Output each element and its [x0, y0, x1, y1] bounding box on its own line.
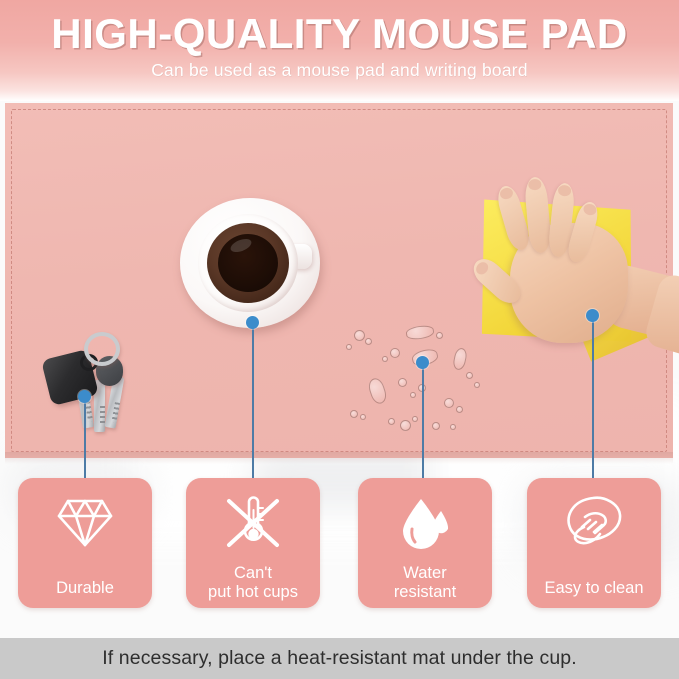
- connector-dot-hot-cups: [246, 316, 259, 329]
- no-hot-cup-icon: [186, 490, 320, 556]
- feature-label-line-1: Water: [358, 564, 492, 583]
- diamond-icon: [18, 490, 152, 556]
- key-ring: [84, 332, 120, 366]
- feature-label-durable: Durable: [18, 579, 152, 598]
- mouse-pad-shadow: [5, 452, 673, 464]
- keys-group: [38, 332, 148, 437]
- feature-label-water-resistant: Water resistant: [358, 564, 492, 602]
- header-banner: HIGH-QUALITY MOUSE PAD Can be used as a …: [0, 0, 679, 101]
- feature-label-line-2: resistant: [358, 583, 492, 602]
- feature-label-line-1: Can't: [186, 564, 320, 583]
- hand-with-cloth: [455, 175, 679, 390]
- connector-line-durable: [84, 396, 86, 482]
- feature-label-easy-to-clean: Easy to clean: [527, 579, 661, 598]
- water-drop-icon: [358, 490, 492, 556]
- footer-note: If necessary, place a heat-resistant mat…: [102, 647, 576, 670]
- connector-dot-easy-clean: [586, 309, 599, 322]
- connector-line-hot-cups: [252, 322, 254, 482]
- product-infographic: HIGH-QUALITY MOUSE PAD Can be used as a …: [0, 0, 679, 679]
- wipe-cloth-icon: [527, 490, 661, 556]
- feature-label-line-2: put hot cups: [186, 583, 320, 602]
- feature-label-hot-cups: Can't put hot cups: [186, 564, 320, 602]
- connector-line-water: [422, 362, 424, 482]
- feature-card-durable[interactable]: Durable: [18, 478, 152, 608]
- connector-line-easy-clean: [592, 315, 594, 482]
- feature-card-water-resistant[interactable]: Water resistant: [358, 478, 492, 608]
- feature-card-hot-cups[interactable]: Can't put hot cups: [186, 478, 320, 608]
- page-title: HIGH-QUALITY MOUSE PAD: [0, 10, 679, 58]
- feature-card-easy-to-clean[interactable]: Easy to clean: [527, 478, 661, 608]
- page-subtitle: Can be used as a mouse pad and writing b…: [0, 60, 679, 81]
- coffee-cup: [180, 196, 328, 330]
- connector-dot-water: [416, 356, 429, 369]
- footer-bar: If necessary, place a heat-resistant mat…: [0, 638, 679, 679]
- connector-dot-durable: [78, 390, 91, 403]
